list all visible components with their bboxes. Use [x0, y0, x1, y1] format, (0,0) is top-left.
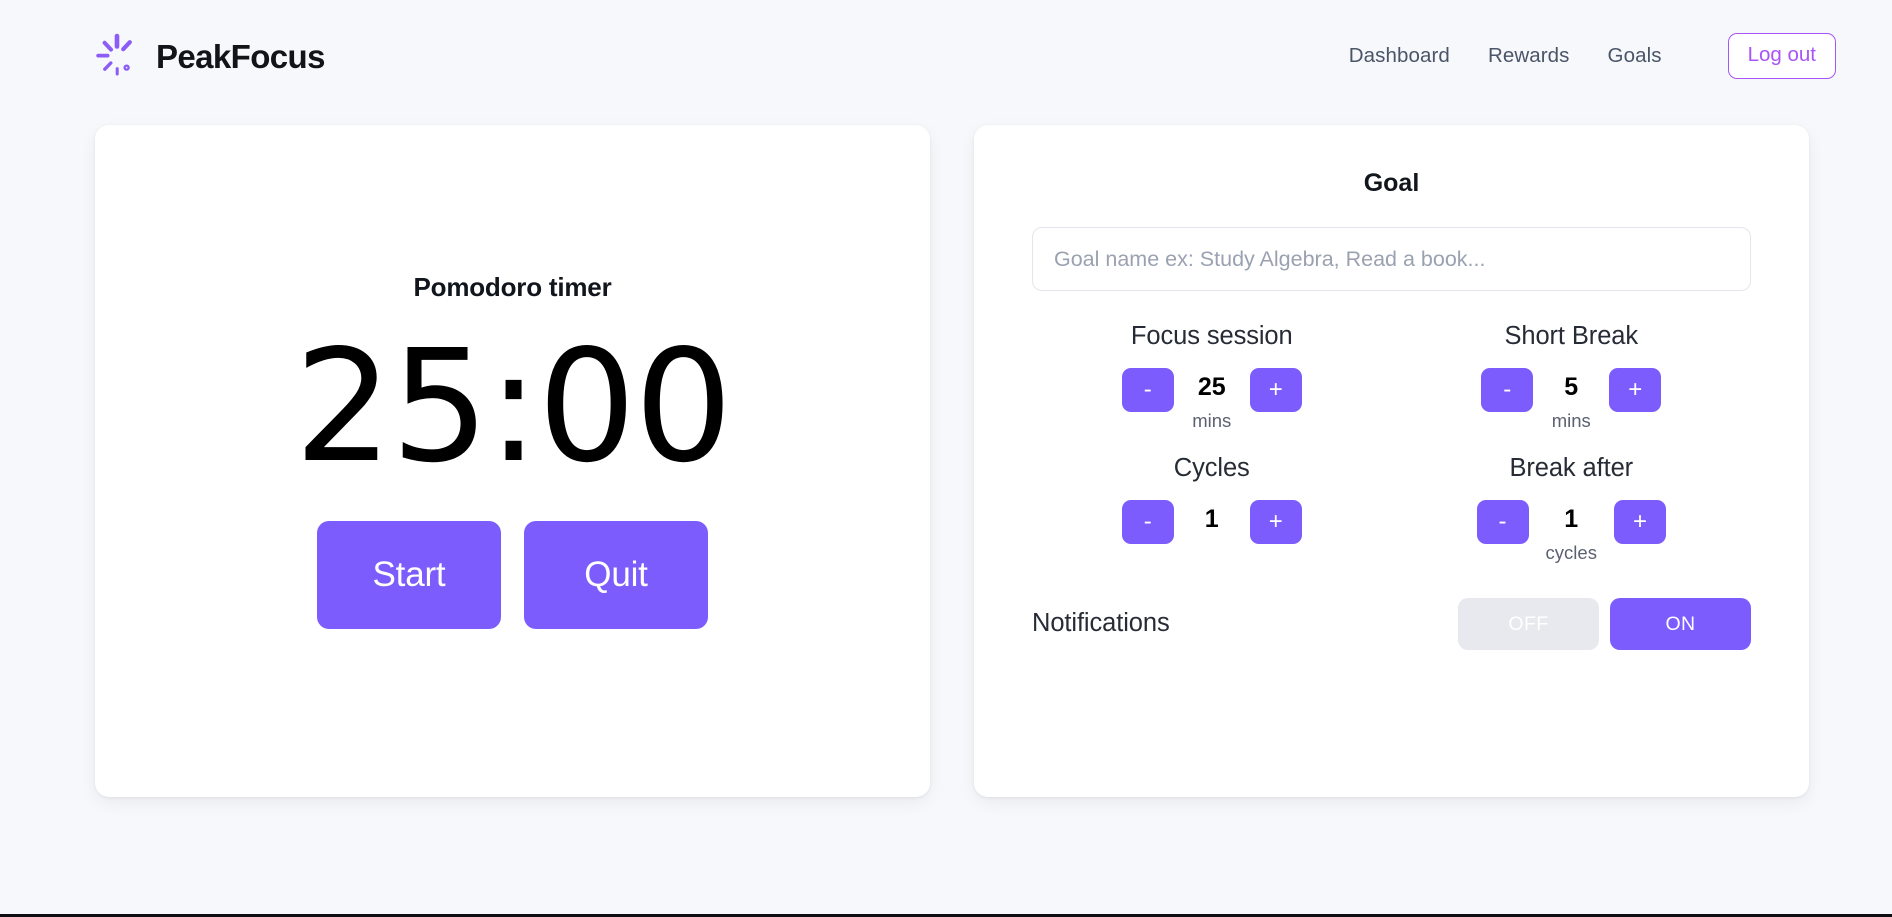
- notifications-off-button[interactable]: OFF: [1458, 598, 1599, 650]
- cycles-value-wrap: 1: [1191, 500, 1233, 544]
- cycles-value: 1: [1205, 507, 1219, 532]
- cycles-increment-button[interactable]: +: [1250, 500, 1302, 544]
- notifications-toggle-group: OFF ON: [1458, 598, 1751, 650]
- focus-session-increment-button[interactable]: +: [1250, 368, 1302, 412]
- main-content: Pomodoro timer 25:00 Start Quit Goal Foc…: [0, 112, 1892, 797]
- goal-name-input[interactable]: [1032, 227, 1751, 291]
- timer-countdown-display: 25:00: [294, 316, 731, 499]
- notifications-row: Notifications OFF ON: [1032, 598, 1751, 650]
- setting-label-focus-session: Focus session: [1131, 324, 1293, 350]
- nav-link-dashboard[interactable]: Dashboard: [1349, 46, 1450, 67]
- focus-session-value: 25: [1198, 375, 1226, 400]
- cycles-decrement-button[interactable]: -: [1122, 500, 1174, 544]
- focus-session-value-wrap: 25 mins: [1191, 368, 1233, 431]
- short-break-value: 5: [1564, 375, 1578, 400]
- settings-grid: Focus session - 25 mins + Short Break - …: [1032, 324, 1751, 562]
- notifications-on-button[interactable]: ON: [1610, 598, 1751, 650]
- setting-focus-session: Focus session - 25 mins +: [1032, 324, 1392, 430]
- break-after-increment-button[interactable]: +: [1614, 500, 1666, 544]
- break-after-value: 1: [1564, 507, 1578, 532]
- nav-link-goals[interactable]: Goals: [1608, 46, 1662, 67]
- setting-label-short-break: Short Break: [1504, 324, 1638, 350]
- spinner-dashes-icon: [92, 31, 142, 81]
- goal-settings-card: Goal Focus session - 25 mins + Short Bre…: [974, 125, 1809, 797]
- short-break-value-wrap: 5 mins: [1550, 368, 1592, 431]
- short-break-unit: mins: [1552, 412, 1591, 431]
- setting-label-break-after: Break after: [1509, 456, 1633, 482]
- pomodoro-timer-card: Pomodoro timer 25:00 Start Quit: [95, 125, 930, 797]
- setting-label-cycles: Cycles: [1174, 456, 1250, 482]
- setting-short-break: Short Break - 5 mins +: [1392, 324, 1752, 430]
- quit-button[interactable]: Quit: [524, 521, 708, 629]
- notifications-label: Notifications: [1032, 611, 1170, 637]
- brand[interactable]: PeakFocus: [92, 31, 325, 81]
- setting-cycles: Cycles - 1 +: [1032, 456, 1392, 562]
- focus-session-decrement-button[interactable]: -: [1122, 368, 1174, 412]
- break-after-value-wrap: 1 cycles: [1546, 500, 1597, 563]
- stepper-short-break: - 5 mins +: [1481, 368, 1661, 431]
- short-break-decrement-button[interactable]: -: [1481, 368, 1533, 412]
- start-button[interactable]: Start: [317, 521, 501, 629]
- app-header: PeakFocus Dashboard Rewards Goals Log ou…: [0, 0, 1892, 112]
- logout-button[interactable]: Log out: [1728, 33, 1836, 79]
- setting-break-after: Break after - 1 cycles +: [1392, 456, 1752, 562]
- break-after-unit: cycles: [1546, 544, 1597, 563]
- short-break-increment-button[interactable]: +: [1609, 368, 1661, 412]
- timer-title: Pomodoro timer: [414, 274, 612, 300]
- main-nav: Dashboard Rewards Goals Log out: [1349, 33, 1836, 79]
- focus-session-unit: mins: [1192, 412, 1231, 431]
- stepper-break-after: - 1 cycles +: [1477, 500, 1666, 563]
- brand-name: PeakFocus: [156, 40, 325, 73]
- timer-actions: Start Quit: [317, 521, 708, 629]
- stepper-focus-session: - 25 mins +: [1122, 368, 1302, 431]
- goal-title: Goal: [1032, 171, 1751, 196]
- break-after-decrement-button[interactable]: -: [1477, 500, 1529, 544]
- stepper-cycles: - 1 +: [1122, 500, 1302, 544]
- nav-link-rewards[interactable]: Rewards: [1488, 46, 1570, 67]
